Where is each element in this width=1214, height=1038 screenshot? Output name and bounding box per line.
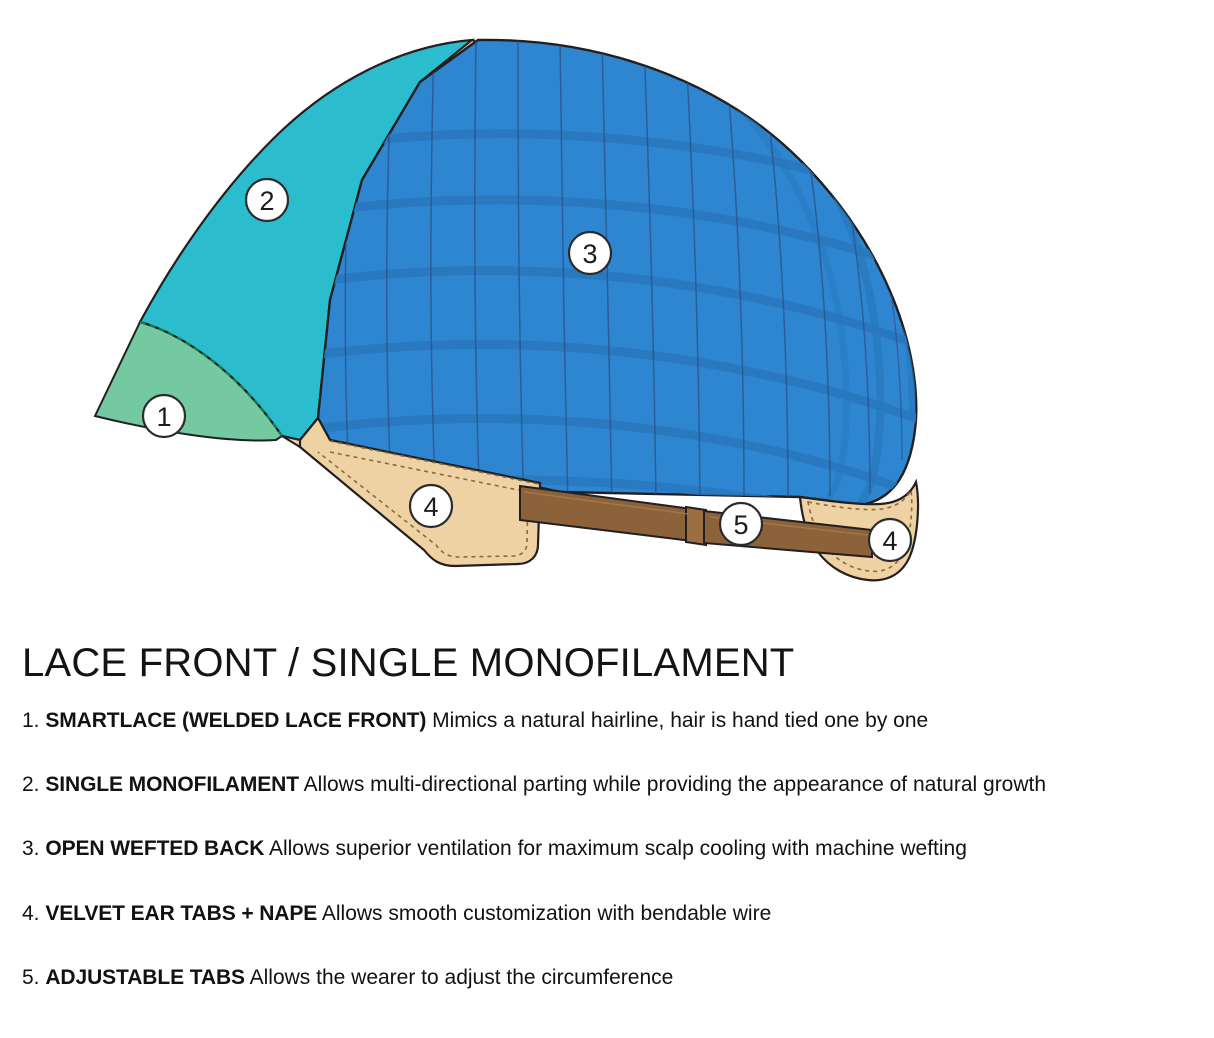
page-root: 1 2 3 4 5 — [0, 0, 1214, 1038]
feature-1-description: Mimics a natural hairline, hair is hand … — [432, 709, 928, 732]
callout-5-label: 5 — [733, 510, 748, 540]
callout-3-label: 3 — [582, 239, 597, 269]
feature-3-description: Allows superior ventilation for maximum … — [269, 837, 967, 860]
feature-2-description: Allows multi-directional parting while p… — [304, 773, 1046, 796]
callout-1[interactable]: 1 — [143, 395, 185, 437]
callout-4-right-label: 4 — [882, 526, 897, 556]
callout-5[interactable]: 5 — [720, 503, 762, 545]
feature-5-term: ADJUSTABLE TABS — [45, 966, 245, 989]
page-title: LACE FRONT / SINGLE MONOFILAMENT — [22, 640, 1202, 686]
feature-3-term: OPEN WEFTED BACK — [45, 837, 264, 860]
feature-item-2: 2. SINGLE MONOFILAMENT Allows multi-dire… — [22, 772, 1202, 797]
feature-3-number: 3. — [22, 837, 40, 860]
feature-4-description: Allows smooth customization with bendabl… — [322, 902, 771, 925]
feature-4-number: 4. — [22, 902, 40, 925]
feature-item-3: 3. OPEN WEFTED BACK Allows superior vent… — [22, 836, 1202, 861]
feature-5-number: 5. — [22, 966, 40, 989]
callout-4-right[interactable]: 4 — [869, 519, 911, 561]
feature-item-4: 4. VELVET EAR TABS + NAPE Allows smooth … — [22, 901, 1202, 926]
wig-cap-svg: 1 2 3 4 5 — [0, 0, 1214, 620]
feature-5-description: Allows the wearer to adjust the circumfe… — [250, 966, 674, 989]
callout-2[interactable]: 2 — [246, 179, 288, 221]
feature-item-5: 5. ADJUSTABLE TABS Allows the wearer to … — [22, 965, 1202, 990]
feature-2-number: 2. — [22, 773, 40, 796]
feature-1-term: SMARTLACE (WELDED LACE FRONT) — [45, 709, 426, 732]
feature-2-term: SINGLE MONOFILAMENT — [45, 773, 299, 796]
wig-cap-diagram: 1 2 3 4 5 — [0, 0, 1214, 620]
callout-4-left[interactable]: 4 — [410, 485, 452, 527]
feature-4-term: VELVET EAR TABS + NAPE — [45, 902, 317, 925]
callout-1-label: 1 — [156, 402, 171, 432]
callout-2-label: 2 — [259, 186, 274, 216]
feature-1-number: 1. — [22, 709, 40, 732]
callout-4-left-label: 4 — [423, 492, 438, 522]
callout-3[interactable]: 3 — [569, 232, 611, 274]
feature-item-1: 1. SMARTLACE (WELDED LACE FRONT) Mimics … — [22, 708, 1202, 733]
legend-text-block: LACE FRONT / SINGLE MONOFILAMENT 1. SMAR… — [22, 640, 1202, 990]
feature-list: 1. SMARTLACE (WELDED LACE FRONT) Mimics … — [22, 708, 1202, 990]
